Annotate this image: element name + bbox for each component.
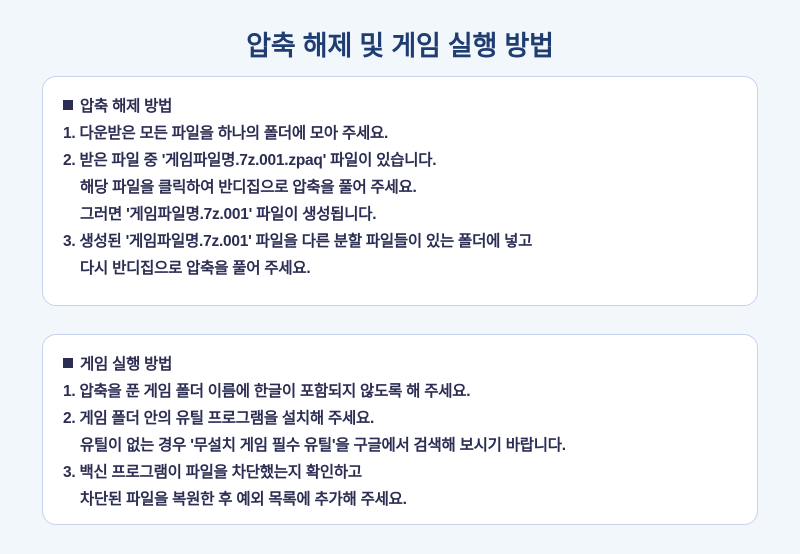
card-unzip-line-4: 그러면 '게임파일명.7z.001' 파일이 생성됩니다. xyxy=(63,201,737,228)
card-unzip-heading: 압축 해제 방법 xyxy=(63,93,737,120)
square-bullet-icon xyxy=(63,100,73,110)
card-unzip-line-3: 해당 파일을 클릭하여 반디집으로 압축을 풀어 주세요. xyxy=(63,174,737,201)
square-bullet-icon xyxy=(63,358,73,368)
card-run-line-1: 1. 압축을 푼 게임 폴더 이름에 한글이 포함되지 않도록 해 주세요. xyxy=(63,378,737,405)
card-run-line-5: 차단된 파일을 복원한 후 예외 목록에 추가해 주세요. xyxy=(63,486,737,513)
card-unzip-line-2: 2. 받은 파일 중 '게임파일명.7z.001.zpaq' 파일이 있습니다. xyxy=(63,147,737,174)
card-run-heading: 게임 실행 방법 xyxy=(63,351,737,378)
card-unzip-body: 압축 해제 방법 1. 다운받은 모든 파일을 하나의 폴더에 모아 주세요. … xyxy=(43,77,757,292)
card-run-line-4: 3. 백신 프로그램이 파일을 차단했는지 확인하고 xyxy=(63,459,737,486)
card-unzip-instructions: 압축 해제 방법 1. 다운받은 모든 파일을 하나의 폴더에 모아 주세요. … xyxy=(42,76,758,306)
card-unzip-line-1: 1. 다운받은 모든 파일을 하나의 폴더에 모아 주세요. xyxy=(63,120,737,147)
card-unzip-heading-label: 압축 해제 방법 xyxy=(80,98,172,115)
card-run-heading-label: 게임 실행 방법 xyxy=(80,356,172,373)
card-unzip-line-6: 다시 반디집으로 압축을 풀어 주세요. xyxy=(63,255,737,282)
card-run-instructions: 게임 실행 방법 1. 압축을 푼 게임 폴더 이름에 한글이 포함되지 않도록… xyxy=(42,334,758,525)
card-run-line-3: 유틸이 없는 경우 '무설치 게임 필수 유틸'을 구글에서 검색해 보시기 바… xyxy=(63,432,737,459)
page-title: 압축 해제 및 게임 실행 방법 xyxy=(0,24,800,63)
instruction-page: 압축 해제 및 게임 실행 방법 압축 해제 방법 1. 다운받은 모든 파일을… xyxy=(0,0,800,554)
card-run-body: 게임 실행 방법 1. 압축을 푼 게임 폴더 이름에 한글이 포함되지 않도록… xyxy=(43,335,757,523)
card-run-line-2: 2. 게임 폴더 안의 유틸 프로그램을 설치해 주세요. xyxy=(63,405,737,432)
card-unzip-line-5: 3. 생성된 '게임파일명.7z.001' 파일을 다른 분할 파일들이 있는 … xyxy=(63,228,737,255)
